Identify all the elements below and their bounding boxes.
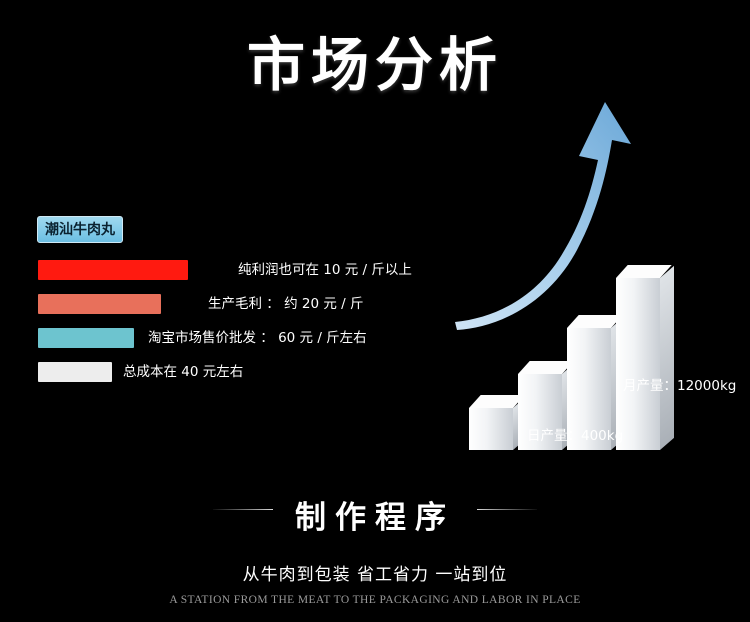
bar-row: 淘宝市场售价批发 ： 60 元 / 斤左右	[38, 324, 458, 358]
brand-tag: 潮汕牛肉丸	[37, 216, 123, 243]
column-1-front	[469, 408, 513, 450]
bar-gross-margin	[38, 294, 161, 314]
section-subtitle-cn: 从牛肉到包装 省工省力 一站到位	[0, 560, 750, 585]
bar-row: 纯利润也可在 10 元 / 斤以上	[38, 256, 458, 290]
bar-row: 总成本在 40 元左右	[38, 358, 458, 392]
column-chart-3d	[455, 110, 745, 450]
column-4-side	[660, 266, 674, 450]
divider-right	[477, 509, 537, 510]
bar-label-total-cost: 总成本在 40 元左右	[123, 362, 243, 382]
bar-profit	[38, 260, 188, 280]
section-subtitle-en: A STATION FROM THE MEAT TO THE PACKAGING…	[0, 594, 750, 606]
bar-wholesale-price	[38, 328, 134, 348]
horizontal-bar-chart: 纯利润也可在 10 元 / 斤以上 生产毛利 ： 约 20 元 / 斤 淘宝市场…	[38, 256, 458, 392]
bar-label-gross-margin: 生产毛利 ： 约 20 元 / 斤	[208, 294, 363, 314]
divider-left	[213, 509, 273, 510]
bar-label-wholesale-price: 淘宝市场售价批发 ： 60 元 / 斤左右	[148, 328, 367, 348]
column-1	[469, 408, 513, 450]
bar-total-cost	[38, 362, 112, 382]
section-heading-block: 制作程序	[0, 492, 750, 537]
section-heading: 制作程序	[295, 492, 455, 537]
note-daily-output: 日产量：400kg	[527, 424, 623, 444]
page-title: 市场分析	[0, 18, 750, 102]
bar-label-profit: 纯利润也可在 10 元 / 斤以上	[238, 260, 412, 280]
note-monthly-output: 月产量：12000kg	[623, 374, 736, 394]
bar-row: 生产毛利 ： 约 20 元 / 斤	[38, 290, 458, 324]
